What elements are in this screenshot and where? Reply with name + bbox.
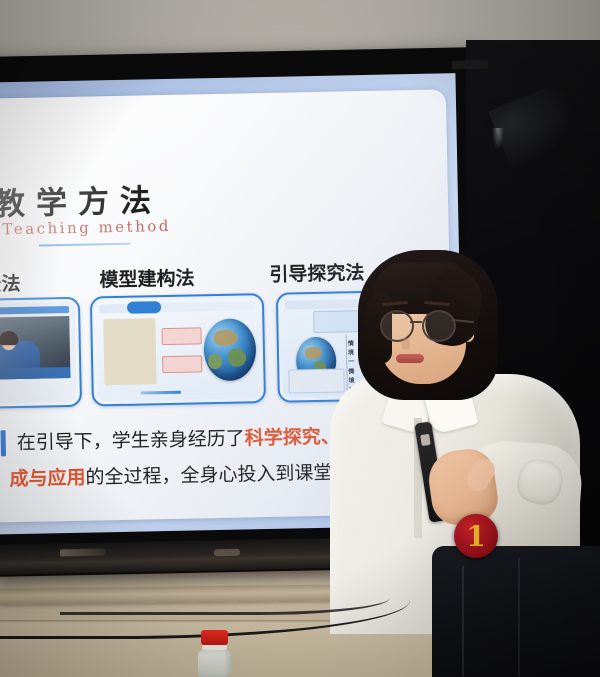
courseware-footer	[103, 386, 255, 397]
lips	[396, 354, 424, 363]
glasses-icon	[378, 310, 474, 338]
lens-right	[422, 310, 456, 342]
news-lower-third	[0, 367, 70, 380]
courseware-tab[interactable]	[127, 301, 161, 314]
model-building-card-inner	[95, 298, 261, 401]
globe-icon	[203, 318, 256, 381]
callout-chip-2	[162, 355, 202, 373]
slide-title-cn: 教学方法	[0, 175, 162, 224]
courseware-header	[99, 301, 255, 313]
model-screenshot	[95, 298, 261, 401]
nose	[402, 338, 410, 350]
bottle-body	[198, 650, 231, 677]
skirt	[432, 546, 600, 677]
glasses-bridge	[410, 321, 422, 323]
text-accent-bar	[0, 430, 6, 456]
model-building-card[interactable]	[90, 293, 266, 406]
callout-chip-1	[161, 327, 201, 345]
summary-line-2: 成与应用的全过程，全身心投入到课堂中	[9, 463, 351, 489]
skirt-fold	[518, 558, 520, 676]
photo-stage: 教学方法 Teaching method 情景法 模型建构法 引导探究法	[0, 0, 600, 677]
lens-left	[380, 310, 414, 342]
title-underline	[39, 243, 131, 247]
summary-line-2-accent: 成与应用	[9, 468, 85, 491]
head	[358, 250, 498, 410]
news-video-card[interactable]: 新闻播报画面	[0, 297, 82, 410]
news-titlebar	[0, 306, 69, 315]
remote-screen	[420, 434, 431, 446]
heading-situational-method: 情景法	[0, 269, 21, 297]
heading-model-building-method: 模型建构法	[99, 263, 195, 292]
wall-cable-secondary	[60, 572, 390, 615]
bottle-cap	[201, 630, 228, 645]
ir-sensor	[214, 549, 240, 557]
mount-bracket	[452, 59, 488, 69]
number-badge: 1	[454, 514, 498, 558]
skirt-fold	[462, 566, 464, 676]
badge-number: 1	[454, 514, 498, 558]
water-bottle[interactable]	[196, 630, 232, 677]
slide-title-en: Teaching method	[2, 217, 171, 238]
news-screenshot: 新闻播报画面	[0, 302, 77, 405]
news-video-card-inner: 新闻播报画面	[0, 302, 77, 405]
anchor-hair	[0, 331, 18, 345]
summary-line-1-plain: 在引导下，学生亲身经历了	[17, 428, 245, 454]
text-block	[103, 318, 156, 385]
summary-line-2-plain: 的全过程，全身心投入到课堂中	[85, 462, 351, 488]
panel-highlight	[492, 128, 504, 150]
progress-arrow-icon	[141, 391, 181, 395]
brand-logo	[60, 549, 106, 557]
news-video-frame	[0, 316, 70, 380]
